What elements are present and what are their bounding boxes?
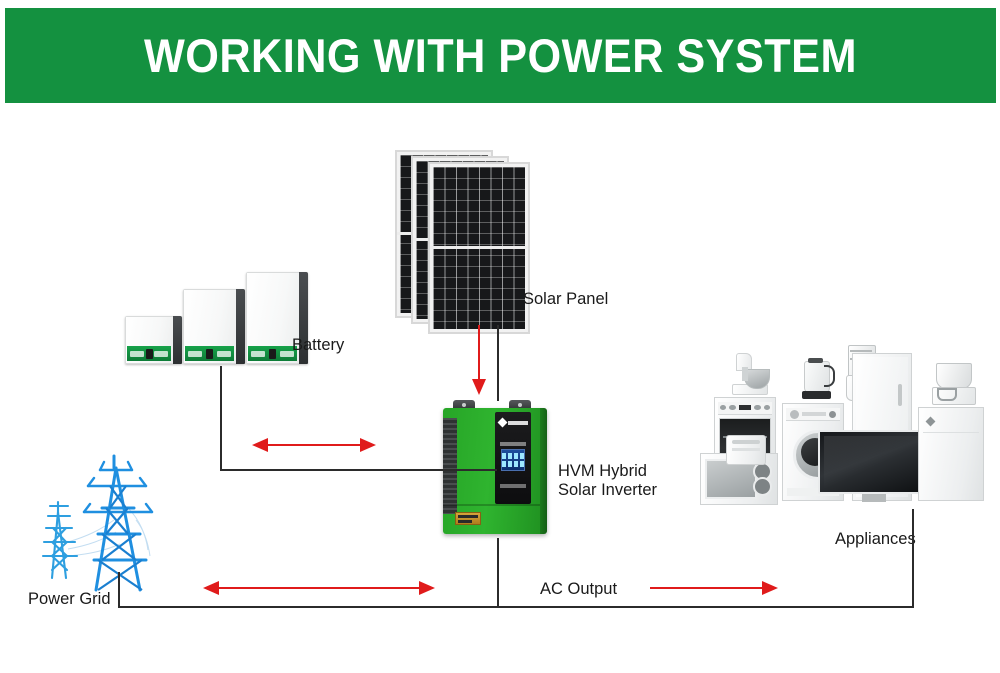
inverter-cover-seam	[443, 504, 540, 506]
solar-panel-front	[428, 162, 530, 334]
ac-output-label: AC Output	[540, 579, 617, 600]
battery-label-band	[248, 346, 297, 361]
inverter-control-panel	[495, 412, 531, 504]
panel-footer-text	[500, 484, 526, 488]
wire-battery-to-inverter	[220, 469, 497, 471]
electric-kettle-appliance	[800, 357, 834, 401]
battery-indicator	[269, 349, 276, 359]
battery-model-mark	[217, 351, 231, 357]
page-header-banner: WORKING WITH POWER SYSTEM	[5, 8, 996, 103]
wire-appliances-riser	[912, 509, 914, 608]
arrow-ac-output	[650, 581, 778, 595]
arrow-head-right	[360, 438, 376, 452]
coffee-maker-appliance	[930, 363, 978, 411]
battery-indicator	[146, 349, 153, 359]
wire-inverter-drop	[497, 538, 499, 608]
arrow-shaft	[217, 587, 421, 589]
arrow-head-right	[762, 581, 778, 595]
arrow-battery-bidirectional	[252, 438, 376, 452]
battery-brand-mark	[130, 351, 144, 357]
inverter-right-edge	[540, 408, 547, 534]
solar-panel-group	[395, 150, 530, 325]
arrow-grid-bidirectional	[203, 581, 435, 595]
panel-split-line	[430, 246, 528, 249]
battery-unit-medium	[183, 289, 245, 364]
inverter-heatsink-fins	[443, 418, 457, 514]
battery-label-band	[185, 346, 234, 361]
battery-unit-small	[125, 316, 182, 364]
battery-model-mark	[154, 351, 168, 357]
inverter-label-line2: Solar Inverter	[558, 480, 657, 501]
inverter-lcd-display[interactable]	[501, 449, 525, 471]
appliances-label: Appliances	[835, 529, 916, 550]
wire-grid-riser	[118, 572, 120, 608]
panel-caption-text	[500, 442, 526, 446]
lcd-segment-row	[502, 461, 524, 467]
arrow-head-right	[419, 581, 435, 595]
appliance-group	[700, 335, 985, 510]
inverter-label-line1: HVM Hybrid	[558, 461, 647, 482]
wire-solar-to-inverter	[497, 325, 499, 401]
battery-label-band	[127, 346, 171, 361]
wire-battery-drop	[220, 366, 222, 471]
arrow-head-down	[472, 379, 486, 395]
battery-brand-mark	[188, 351, 202, 357]
battery-brand-mark	[251, 351, 265, 357]
arrow-shaft	[650, 587, 764, 589]
battery-label: Battery	[292, 335, 344, 356]
lcd-segment-row	[502, 453, 524, 459]
television-appliance	[818, 430, 930, 502]
battery-side-panel	[173, 316, 182, 364]
inverter-terminal-block	[455, 512, 481, 525]
terminal-slot	[458, 515, 478, 518]
diagram-canvas: WORKING WITH POWER SYSTEM Solar Panel	[0, 0, 1000, 673]
bracket-bolt	[462, 403, 466, 407]
terminal-slot	[458, 520, 472, 523]
arrow-shaft	[266, 444, 362, 446]
inverter-enclosure	[443, 408, 547, 534]
battery-indicator	[206, 349, 213, 359]
page-title: WORKING WITH POWER SYSTEM	[144, 28, 857, 83]
solar-panel-label: Solar Panel	[523, 289, 608, 310]
logo-diamond-icon	[498, 418, 508, 428]
toaster-appliance	[726, 435, 766, 465]
freezer-cabinet-appliance	[918, 407, 984, 501]
inverter-brand-logo	[499, 418, 528, 427]
stand-mixer-appliance	[730, 353, 772, 399]
battery-side-panel	[236, 289, 245, 364]
transmission-tower-icon	[28, 450, 158, 600]
battery-group	[125, 272, 290, 364]
bracket-bolt	[518, 403, 522, 407]
logo-wordmark	[508, 421, 528, 425]
wire-bottom-bus	[118, 606, 914, 608]
power-grid-tower	[28, 450, 158, 600]
arrow-shaft	[478, 325, 480, 381]
arrow-solar-to-inverter	[472, 325, 486, 395]
power-grid-label: Power Grid	[28, 589, 111, 610]
